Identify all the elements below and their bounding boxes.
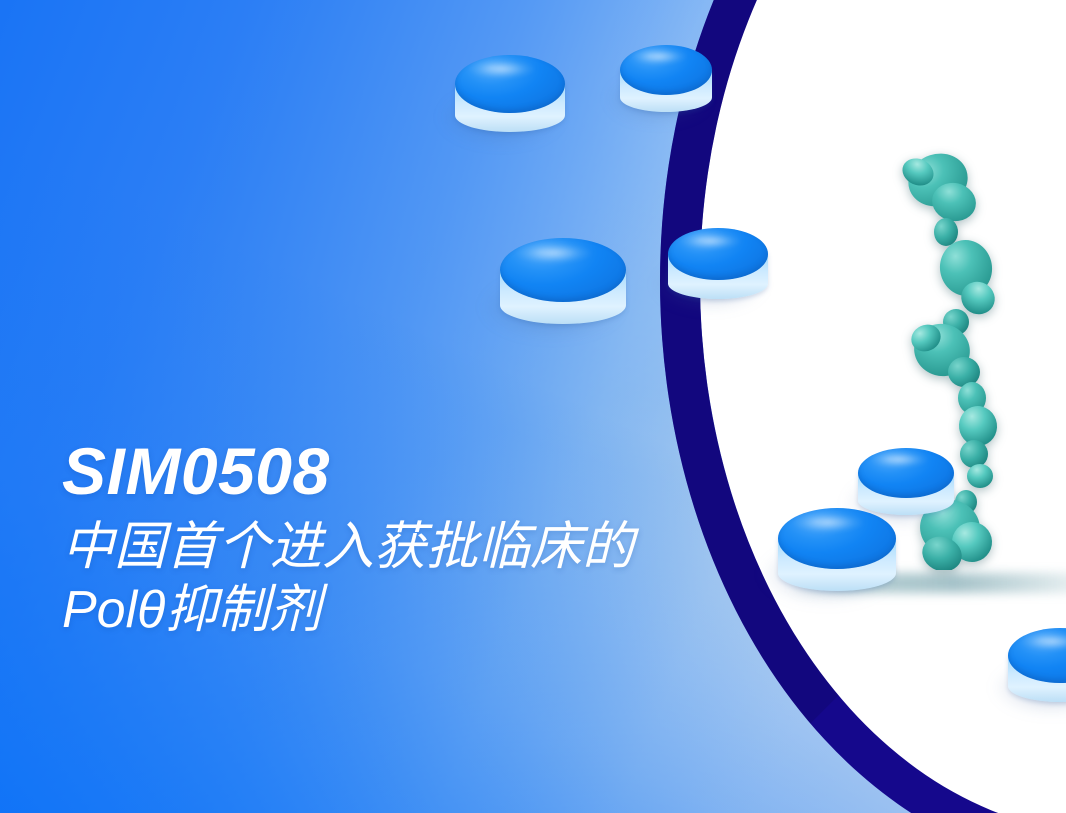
protein-blob-3 <box>934 218 958 246</box>
protein-blob-13 <box>967 464 993 488</box>
tablet-highlight <box>515 242 593 264</box>
tablet-face <box>620 45 712 95</box>
slide-canvas: SIM0508 中国首个进入获批临床的 Polθ抑制剂 <box>0 0 1066 813</box>
page-title: SIM0508 <box>62 438 822 504</box>
headline-block: SIM0508 中国首个进入获批临床的 Polθ抑制剂 <box>62 438 822 643</box>
tablet-highlight <box>870 451 930 468</box>
subtitle-line-1: 中国首个进入获批临床的 <box>62 516 822 579</box>
tablet-highlight <box>468 59 536 79</box>
pill-bottom-right <box>1008 628 1066 714</box>
subtitle-line-2: Polθ抑制剂 <box>62 579 822 642</box>
tablet-highlight <box>792 512 865 533</box>
tablet-highlight <box>631 48 688 65</box>
pill-mid-right <box>668 228 768 310</box>
tablet-face <box>455 55 565 113</box>
pill-top-right <box>620 45 712 123</box>
pill-low-left <box>778 508 896 604</box>
tablet-face <box>778 508 896 569</box>
tablet-face <box>858 448 954 498</box>
pill-mid-left <box>500 238 626 338</box>
tablet-face <box>500 238 626 302</box>
tablet-highlight <box>1020 632 1066 651</box>
protein-blob-12 <box>960 440 988 468</box>
tablet-face <box>668 228 768 280</box>
pill-top-left <box>455 55 565 145</box>
tablet-highlight <box>680 232 742 250</box>
